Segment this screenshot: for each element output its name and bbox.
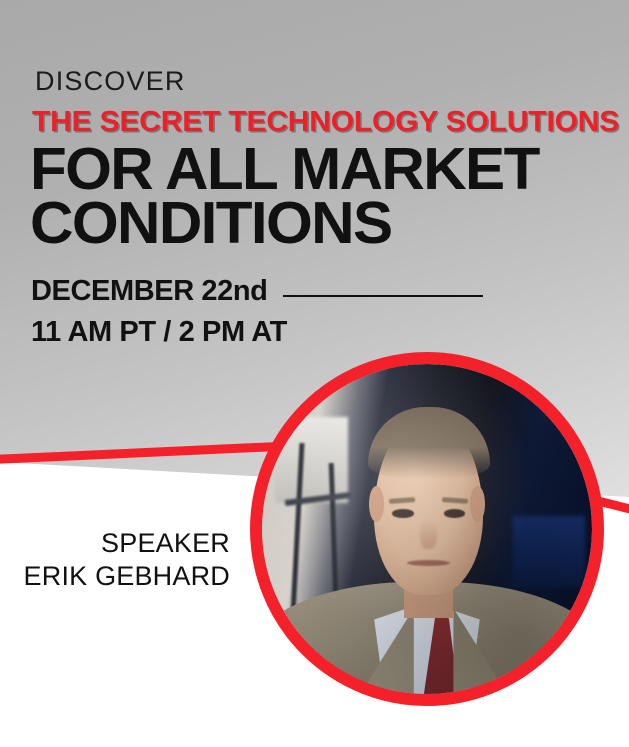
speaker-portrait-circle xyxy=(250,352,604,706)
date-divider-rule xyxy=(283,295,483,297)
kicker-text: DISCOVER xyxy=(35,66,186,97)
headline-main: FOR ALL MARKET CONDITIONS xyxy=(30,142,539,251)
speaker-label: SPEAKER xyxy=(18,527,230,560)
photo-lighting-overlay xyxy=(262,364,592,694)
headline-main-line-2: CONDITIONS xyxy=(30,196,539,250)
speaker-caption: SPEAKER ERIK GEBHARD xyxy=(18,527,230,593)
event-date-text: DECEMBER 22nd xyxy=(31,275,268,308)
webinar-promo-poster: DISCOVER THE SECRET TECHNOLOGY SOLUTIONS… xyxy=(0,0,629,747)
speaker-portrait-clip xyxy=(262,364,592,694)
speaker-photo xyxy=(262,364,592,694)
event-time-text: 11 AM PT / 2 PM AT xyxy=(31,316,287,349)
headline-red-text: THE SECRET TECHNOLOGY SOLUTIONS xyxy=(32,106,619,139)
speaker-name: ERIK GEBHARD xyxy=(18,560,230,593)
